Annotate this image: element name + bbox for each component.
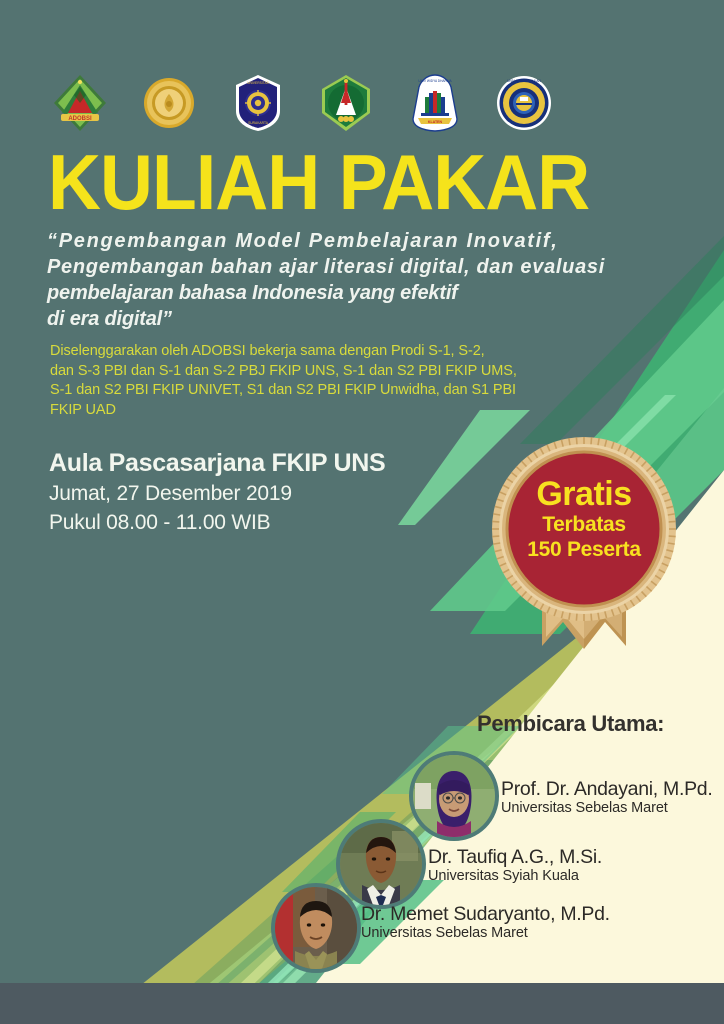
svg-text:SURAKARTA: SURAKARTA — [248, 121, 269, 125]
svg-text:UNIV AHMAD DAHLAN: UNIV AHMAD DAHLAN — [507, 79, 541, 83]
organizer-line-4: FKIP UAD — [50, 401, 550, 421]
organizer-line-1: Diselenggarakan oleh ADOBSI bekerja sama… — [50, 342, 550, 362]
speaker-portrait-memet — [271, 883, 361, 973]
speakers-heading: Pembicara Utama: — [477, 711, 664, 737]
uad-logo: UNIV AHMAD DAHLAN — [496, 73, 552, 133]
adobsi-logo: ADOBSI — [52, 73, 108, 133]
organizer-statement: Diselenggarakan oleh ADOBSI bekerja sama… — [50, 342, 550, 420]
poster-title: KULIAH PAKAR — [48, 143, 650, 221]
speaker-name-2: Dr. Memet Sudaryanto, M.Pd. — [361, 903, 610, 925]
event-time: Pukul 08.00 - 11.00 WIB — [49, 508, 469, 537]
speaker-info-2: Dr. Memet Sudaryanto, M.Pd. Universitas … — [361, 903, 610, 942]
speaker-portrait-taufiq — [336, 819, 426, 909]
quote-line-4: di era digital” — [47, 306, 627, 332]
uns-logo — [141, 73, 197, 133]
speaker-portrait-andayani — [409, 751, 499, 841]
organizer-line-3: S-1 dan S2 PBI FKIP UNIVET, S1 dan S2 PB… — [50, 381, 550, 401]
svg-text:UNIV WIDYA DHARMA: UNIV WIDYA DHARMA — [419, 79, 453, 83]
univet-bantara-logo — [318, 73, 374, 133]
speaker-affiliation-2: Universitas Sebelas Maret — [361, 925, 610, 942]
svg-text:KLATEN: KLATEN — [428, 120, 443, 124]
event-venue: Aula Pascasarjana FKIP UNS — [49, 447, 469, 479]
unwidha-klaten-logo: KLATEN UNIV WIDYA DHARMA — [407, 73, 463, 133]
svg-text:ADOBSI: ADOBSI — [68, 116, 92, 122]
ums-logo: UNIVERSITAS SURAKARTA — [230, 73, 286, 133]
rosette-shape — [484, 434, 684, 654]
speaker-info-0: Prof. Dr. Andayani, M.Pd. Universitas Se… — [501, 778, 712, 817]
speaker-name-1: Dr. Taufiq A.G., M.Si. — [428, 846, 602, 868]
poster-subtitle-quote: “Pengembangan Model Pembelajaran Inovati… — [47, 228, 627, 332]
gratis-badge: Gratis Terbatas 150 Peserta — [484, 434, 684, 654]
poster-canvas: ADOBSI — [0, 0, 724, 1024]
speaker-affiliation-0: Universitas Sebelas Maret — [501, 800, 712, 817]
speaker-info-1: Dr. Taufiq A.G., M.Si. Universitas Syiah… — [428, 846, 602, 885]
quote-line-2: Pengembangan bahan ajar literasi digital… — [47, 254, 627, 280]
organizer-line-2: dan S-3 PBI dan S-1 dan S-2 PBJ FKIP UNS… — [50, 362, 550, 382]
speaker-name-0: Prof. Dr. Andayani, M.Pd. — [501, 778, 712, 800]
event-details: Aula Pascasarjana FKIP UNS Jumat, 27 Des… — [49, 447, 469, 537]
quote-line-3: pembelajaran bahasa Indonesia yang efekt… — [47, 280, 627, 306]
partner-logos: ADOBSI — [52, 70, 552, 136]
svg-text:UNIVERSITAS: UNIVERSITAS — [247, 81, 270, 85]
speaker-affiliation-1: Universitas Syiah Kuala — [428, 868, 602, 885]
event-date: Jumat, 27 Desember 2019 — [49, 479, 469, 508]
quote-line-1: “Pengembangan Model Pembelajaran Inovati… — [47, 228, 627, 254]
